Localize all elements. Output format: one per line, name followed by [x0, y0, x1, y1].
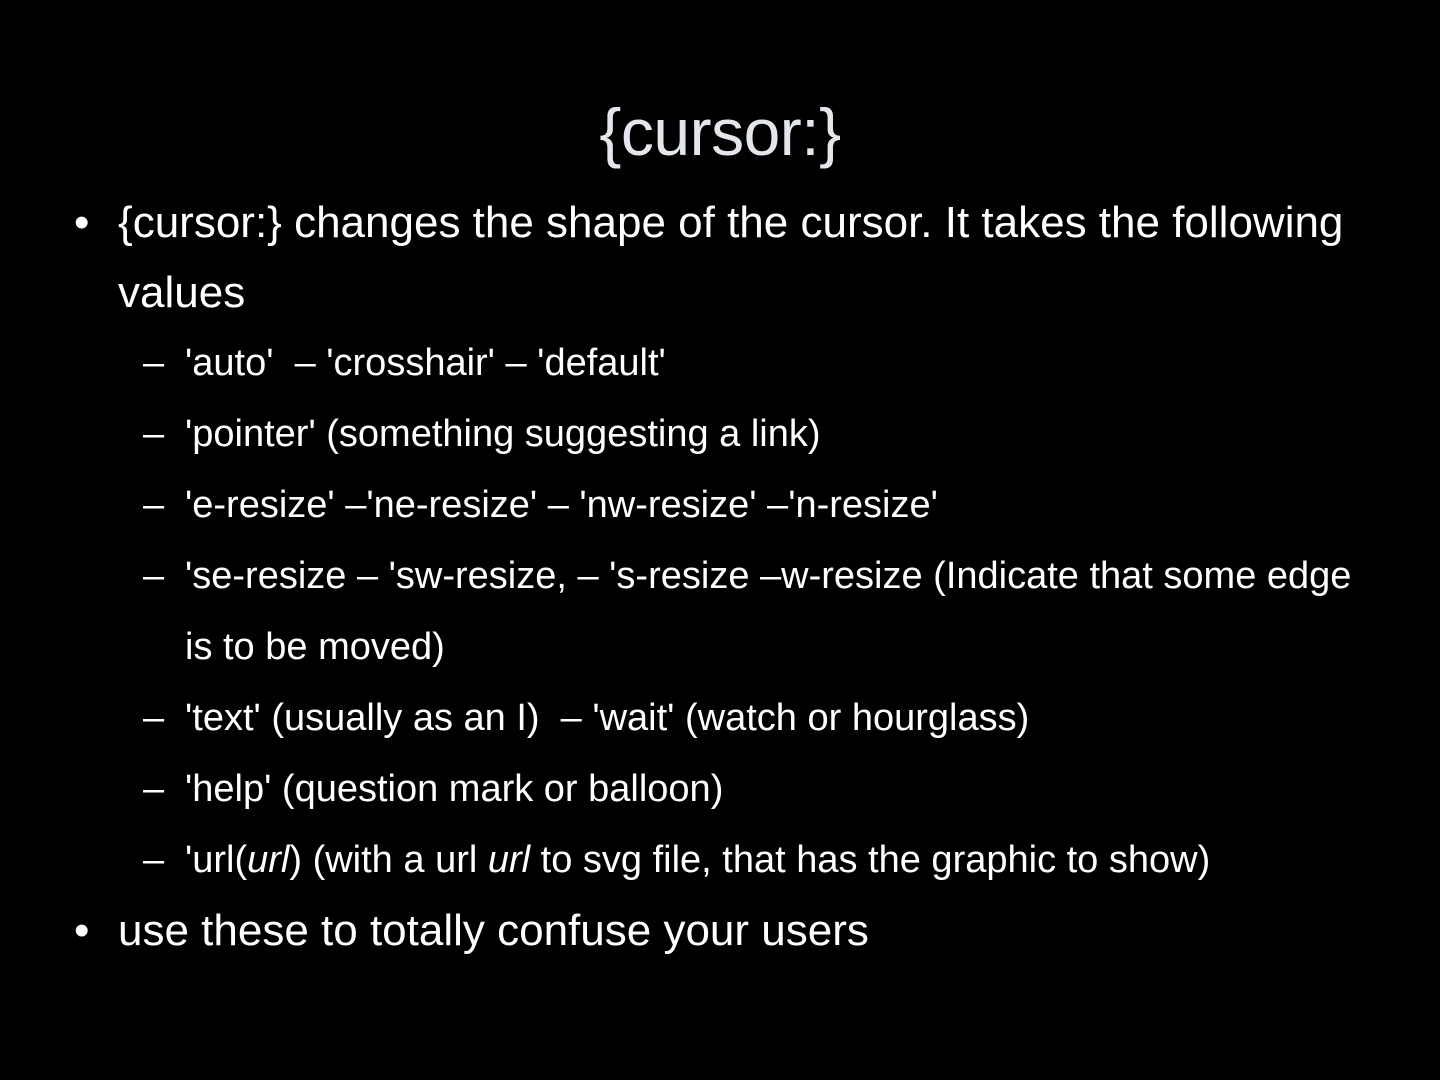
dash-marker-icon: – — [143, 825, 177, 896]
sub-bullet-e-ne-nw-n-resize: –'e-resize' –'ne-resize' – 'nw-resize' –… — [0, 470, 1440, 541]
list-item-label: 'se-resize – 'sw-resize, – 's-resize –w-… — [185, 555, 1362, 668]
list-item-label: 'pointer' (something suggesting a link) — [185, 413, 821, 455]
sub-bullet-auto-crosshair-default: –'auto' – 'crosshair' – 'default' — [0, 328, 1440, 399]
sub-bullet-text-wait: –'text' (usually as an I) – 'wait' (watc… — [0, 683, 1440, 754]
page-title: {cursor:} — [0, 96, 1440, 168]
slide: {cursor:} •{cursor:} changes the shape o… — [0, 0, 1440, 1080]
dash-marker-icon: – — [143, 470, 177, 541]
list-item-label: {cursor:} changes the shape of the curso… — [118, 198, 1356, 317]
list-item-label: 'url(url) (with a url url to svg file, t… — [185, 839, 1210, 881]
list-item-label: 'text' (usually as an I) – 'wait' (watch… — [185, 697, 1029, 739]
dash-marker-icon: – — [143, 683, 177, 754]
bullet-cursor-intro: •{cursor:} changes the shape of the curs… — [0, 188, 1440, 328]
dash-marker-icon: – — [143, 541, 177, 612]
emphasis-text: url — [488, 839, 530, 881]
sub-bullet-url: –'url(url) (with a url url to svg file, … — [0, 825, 1440, 896]
sub-bullet-se-sw-s-w-resize: –'se-resize – 'sw-resize, – 's-resize –w… — [0, 541, 1440, 683]
sub-bullet-help: –'help' (question mark or balloon) — [0, 754, 1440, 825]
bullet-confuse-users: •use these to totally confuse your users — [0, 896, 1440, 966]
bullet-marker-icon: • — [74, 896, 102, 966]
list-item-label: 'auto' – 'crosshair' – 'default' — [185, 342, 666, 384]
list-item-label: 'e-resize' –'ne-resize' – 'nw-resize' –'… — [185, 484, 938, 526]
dash-marker-icon: – — [143, 328, 177, 399]
plain-text: 'url( — [185, 839, 247, 881]
list-item-label: 'help' (question mark or balloon) — [185, 768, 723, 810]
emphasis-text: url — [247, 839, 289, 881]
sub-bullet-pointer: –'pointer' (something suggesting a link) — [0, 399, 1440, 470]
bullet-marker-icon: • — [74, 188, 102, 258]
slide-body-list: •{cursor:} changes the shape of the curs… — [0, 188, 1440, 966]
plain-text: ) (with a url — [289, 839, 487, 881]
dash-marker-icon: – — [143, 399, 177, 470]
list-item-label: use these to totally confuse your users — [118, 906, 869, 955]
plain-text: to svg file, that has the graphic to sho… — [530, 839, 1210, 881]
dash-marker-icon: – — [143, 754, 177, 825]
